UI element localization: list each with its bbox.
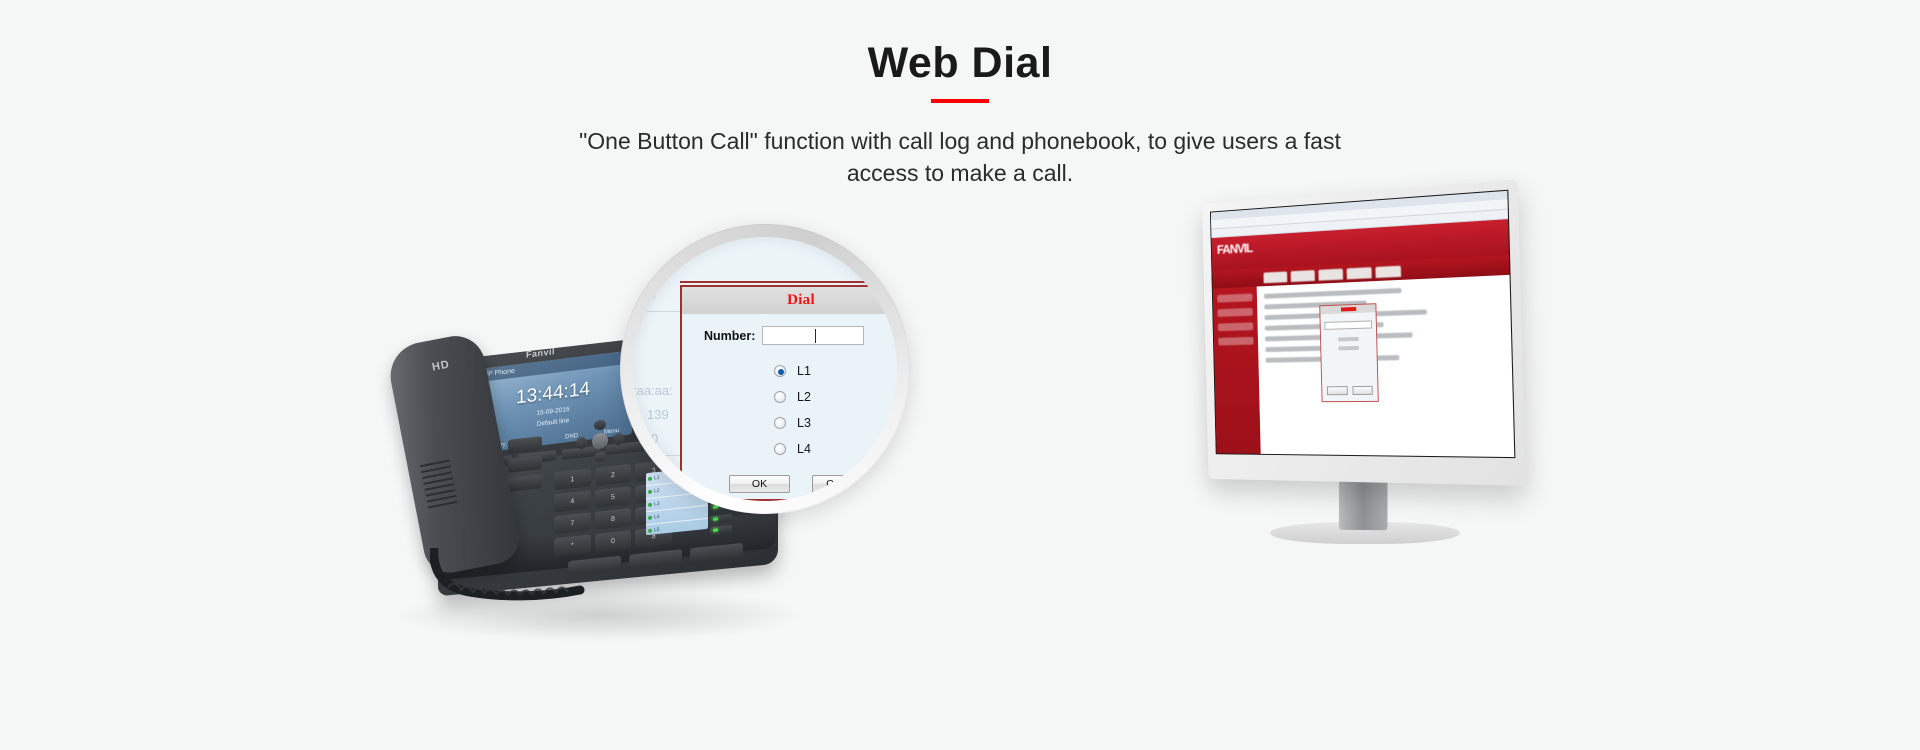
line-label-l3: L3 (797, 416, 811, 430)
dialog-bottom-rule (680, 499, 897, 501)
number-input[interactable] (762, 326, 864, 345)
sidebar-item-4 (1218, 337, 1253, 346)
nav-down-key (594, 451, 606, 462)
line-label-l4: L4 (797, 442, 811, 456)
number-field-row: Number: (682, 314, 897, 345)
nav-ok-key (592, 432, 608, 450)
handset-body (385, 331, 524, 577)
nav-left-key (576, 436, 587, 449)
web-dialog-ok[interactable] (1327, 386, 1348, 395)
line-selection-group: L1 L2 L3 L4 (682, 358, 897, 462)
background-text-mac-address: :aa:aa: (633, 383, 673, 398)
page-subtitle: "One Button Call" function with call log… (550, 125, 1370, 189)
web-dialog-number-input[interactable] (1324, 320, 1372, 329)
web-ui-sidebar (1213, 287, 1261, 454)
text-caret (815, 329, 816, 343)
web-dialog-title-bar (1320, 304, 1375, 314)
web-ui-content (1257, 275, 1515, 457)
page-title: Web Dial (0, 40, 1920, 87)
radio-l4-icon[interactable] (774, 443, 786, 455)
line-label-l1: L1 (797, 364, 811, 378)
nav-up-key (594, 419, 606, 430)
background-text-139: 139 (647, 407, 669, 422)
content-line-1 (1264, 288, 1402, 299)
product-scene: VoIP Phone 13:44:14 15-09-2016 Default l… (0, 210, 1920, 750)
radio-l2-icon[interactable] (774, 391, 786, 403)
radio-l3-icon[interactable] (774, 417, 786, 429)
line-option-l4[interactable]: L4 (774, 436, 897, 462)
web-dial-feature-page: Web Dial "One Button Call" function with… (0, 0, 1920, 750)
dialog-button-row: OK Cancel (682, 475, 897, 493)
web-dialog-radio-1[interactable] (1338, 337, 1359, 342)
cancel-button[interactable]: Cancel (812, 475, 873, 493)
dial-dialog: Dial Number: L1 (680, 285, 897, 501)
web-ui-dial-dialog (1319, 303, 1379, 402)
web-dialog-cancel[interactable] (1352, 386, 1373, 395)
web-ui-logo: FANVIL (1217, 240, 1253, 256)
nav-tab-5 (1375, 265, 1401, 277)
handset-coiled-cord (430, 548, 590, 608)
title-underline-rule (931, 99, 989, 103)
dial-dialog-title: Dial (682, 287, 897, 314)
web-dialog-radio-2[interactable] (1338, 346, 1359, 350)
sidebar-item-3 (1218, 322, 1253, 331)
key-4: 4 (554, 490, 591, 512)
key-0: 0 (595, 530, 632, 552)
desktop-monitor: FANVIL (1170, 192, 1540, 632)
line-label-l2: L2 (797, 390, 811, 404)
nav-tab-4 (1347, 267, 1372, 279)
monitor-bezel: FANVIL (1202, 179, 1526, 485)
background-text-mac: (M) (637, 285, 657, 300)
line-option-l2[interactable]: L2 (774, 384, 897, 410)
line-option-l3[interactable]: L3 (774, 410, 897, 436)
sidebar-item-1 (1217, 293, 1252, 302)
key-7: 7 (554, 512, 591, 534)
ok-button[interactable]: OK (729, 475, 790, 493)
dialog-top-rule (680, 281, 897, 283)
magnifier-glass: (M) :aa:aa: 139 0 Dial Number: (633, 237, 897, 501)
phone-navigation-pad (576, 417, 624, 464)
nav-tab-2 (1291, 270, 1315, 282)
web-dialog-buttons (1327, 386, 1373, 395)
sidebar-item-2 (1218, 308, 1253, 317)
nav-tab-3 (1318, 268, 1343, 280)
line-option-l1[interactable]: L1 (774, 358, 897, 384)
nav-tab-1 (1263, 271, 1287, 283)
number-label: Number: (704, 329, 755, 343)
radio-l1-icon[interactable] (774, 365, 786, 377)
dss-button-5 (710, 514, 732, 524)
magnifier-lens: (M) :aa:aa: 139 0 Dial Number: (620, 224, 910, 514)
background-text-0: 0 (651, 431, 658, 446)
key-1: 1 (554, 468, 591, 490)
page-header: Web Dial "One Button Call" function with… (0, 40, 1920, 189)
monitor-screen: FANVIL (1210, 190, 1515, 458)
